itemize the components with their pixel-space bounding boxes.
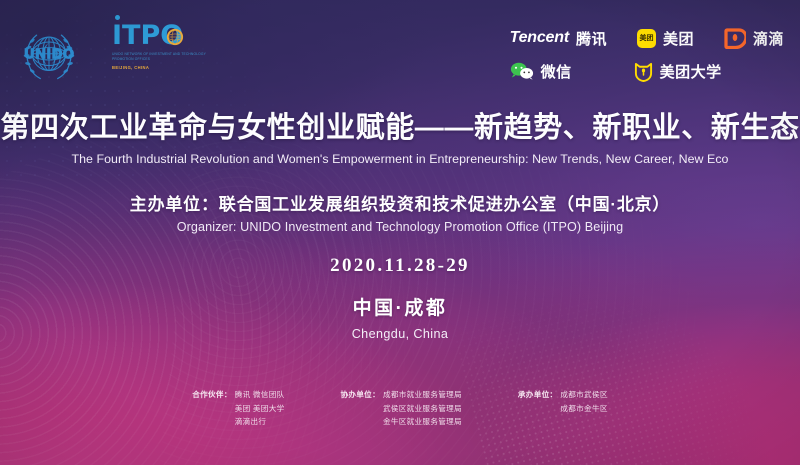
sponsor-label-meituan-university: 美团大学 <box>660 61 722 82</box>
footer-value: 金牛区就业服务管理局 <box>383 415 462 429</box>
meituan-badge-icon: 美团 <box>637 29 656 48</box>
organizer-cn: 主办单位：联合国工业发展组织投资和技术促进办公室（中国·北京） <box>0 190 800 215</box>
footer-value: 成都市就业服务管理局 <box>383 388 462 402</box>
footer-value: 滴滴出行 <box>235 415 285 429</box>
meituan-university-shield-icon <box>634 61 653 82</box>
footer-value: 腾讯 微信团队 <box>235 388 285 402</box>
wechat-logo-icon <box>510 61 534 81</box>
footer-column-partners: 合作伙伴： 腾讯 微信团队 美团 美团大学 滴滴出行 <box>192 388 284 429</box>
footer-column-hosts: 承办单位： 成都市武侯区 成都市金牛区 <box>518 388 608 429</box>
poster-title-en: The Fourth Industrial Revolution and Wom… <box>0 152 800 166</box>
itpo-globe-o-icon <box>164 26 186 48</box>
unido-logo: UNIDO <box>18 24 80 86</box>
poster-title-block: 第四次工业革命与女性创业赋能——新趋势、新职业、新生态 The Fourth I… <box>0 112 800 166</box>
footer-value: 成都市金牛区 <box>560 402 607 416</box>
itpo-city: BEIJING, CHINA <box>112 65 216 70</box>
footer-key-co-organizers: 协办单位： <box>341 388 380 402</box>
footer-values-hosts: 成都市武侯区 成都市金牛区 <box>560 388 607 415</box>
organizer-en: Organizer: UNIDO Investment and Technolo… <box>0 220 800 234</box>
sponsor-logo-group: Tencent 腾讯 美团 美团 滴滴 <box>510 26 784 83</box>
unido-wordmark: UNIDO <box>24 47 74 63</box>
sponsor-label-didi: 滴滴 <box>753 28 784 49</box>
didi-logo-icon <box>724 28 746 49</box>
conference-poster: UNIDO ITPO UNI <box>0 0 800 465</box>
unido-globe-icon: UNIDO <box>18 24 80 86</box>
sponsor-meituan-university[interactable]: 美团大学 <box>634 59 722 83</box>
footer-value: 美团 美团大学 <box>235 402 285 416</box>
sponsor-tencent[interactable]: Tencent 腾讯 <box>510 26 607 50</box>
sponsor-label-wechat: 微信 <box>541 61 572 82</box>
organizer-block: 主办单位：联合国工业发展组织投资和技术促进办公室（中国·北京） Organize… <box>0 190 800 234</box>
event-details-block: 2020.11.28-29 中国·成都 Chengdu, China <box>0 255 800 341</box>
sponsor-label-tencent: 腾讯 <box>576 28 607 49</box>
footer-key-partners: 合作伙伴： <box>192 388 231 402</box>
footer-key-hosts: 承办单位： <box>518 388 557 402</box>
sponsor-meituan[interactable]: 美团 美团 <box>637 26 694 50</box>
event-city-en: Chengdu, China <box>0 327 800 341</box>
tencent-wordmark-icon: Tencent <box>510 29 569 47</box>
footer-values-partners: 腾讯 微信团队 美团 美团大学 滴滴出行 <box>235 388 285 429</box>
footer-value: 成都市武侯区 <box>560 388 607 402</box>
itpo-logo: ITPO UNIDO NETWORK OF INVESTMENT AND TEC… <box>112 22 216 88</box>
sponsor-didi[interactable]: 滴滴 <box>724 26 784 50</box>
footer-value: 武侯区就业服务管理局 <box>383 402 462 416</box>
event-city-cn: 中国·成都 <box>0 293 800 320</box>
footer-column-co-organizers: 协办单位： 成都市就业服务管理局 武侯区就业服务管理局 金牛区就业服务管理局 <box>341 388 462 429</box>
event-date: 2020.11.28-29 <box>0 255 800 277</box>
sponsor-row-bottom: 微信 美团大学 <box>510 59 722 83</box>
footer-values-co-organizers: 成都市就业服务管理局 武侯区就业服务管理局 金牛区就业服务管理局 <box>383 388 462 429</box>
sponsor-wechat[interactable]: 微信 <box>510 59 572 83</box>
sponsor-label-meituan: 美团 <box>663 28 694 49</box>
footer-partners: 合作伙伴： 腾讯 微信团队 美团 美团大学 滴滴出行 协办单位： 成都市就业服务… <box>0 388 800 429</box>
itpo-subtitle: UNIDO NETWORK OF INVESTMENT AND TECHNOLO… <box>112 52 212 62</box>
poster-title-cn: 第四次工业革命与女性创业赋能——新趋势、新职业、新生态 <box>0 112 800 146</box>
sponsor-row-top: Tencent 腾讯 美团 美团 滴滴 <box>510 26 784 50</box>
poster-header: UNIDO ITPO UNI <box>0 0 800 100</box>
